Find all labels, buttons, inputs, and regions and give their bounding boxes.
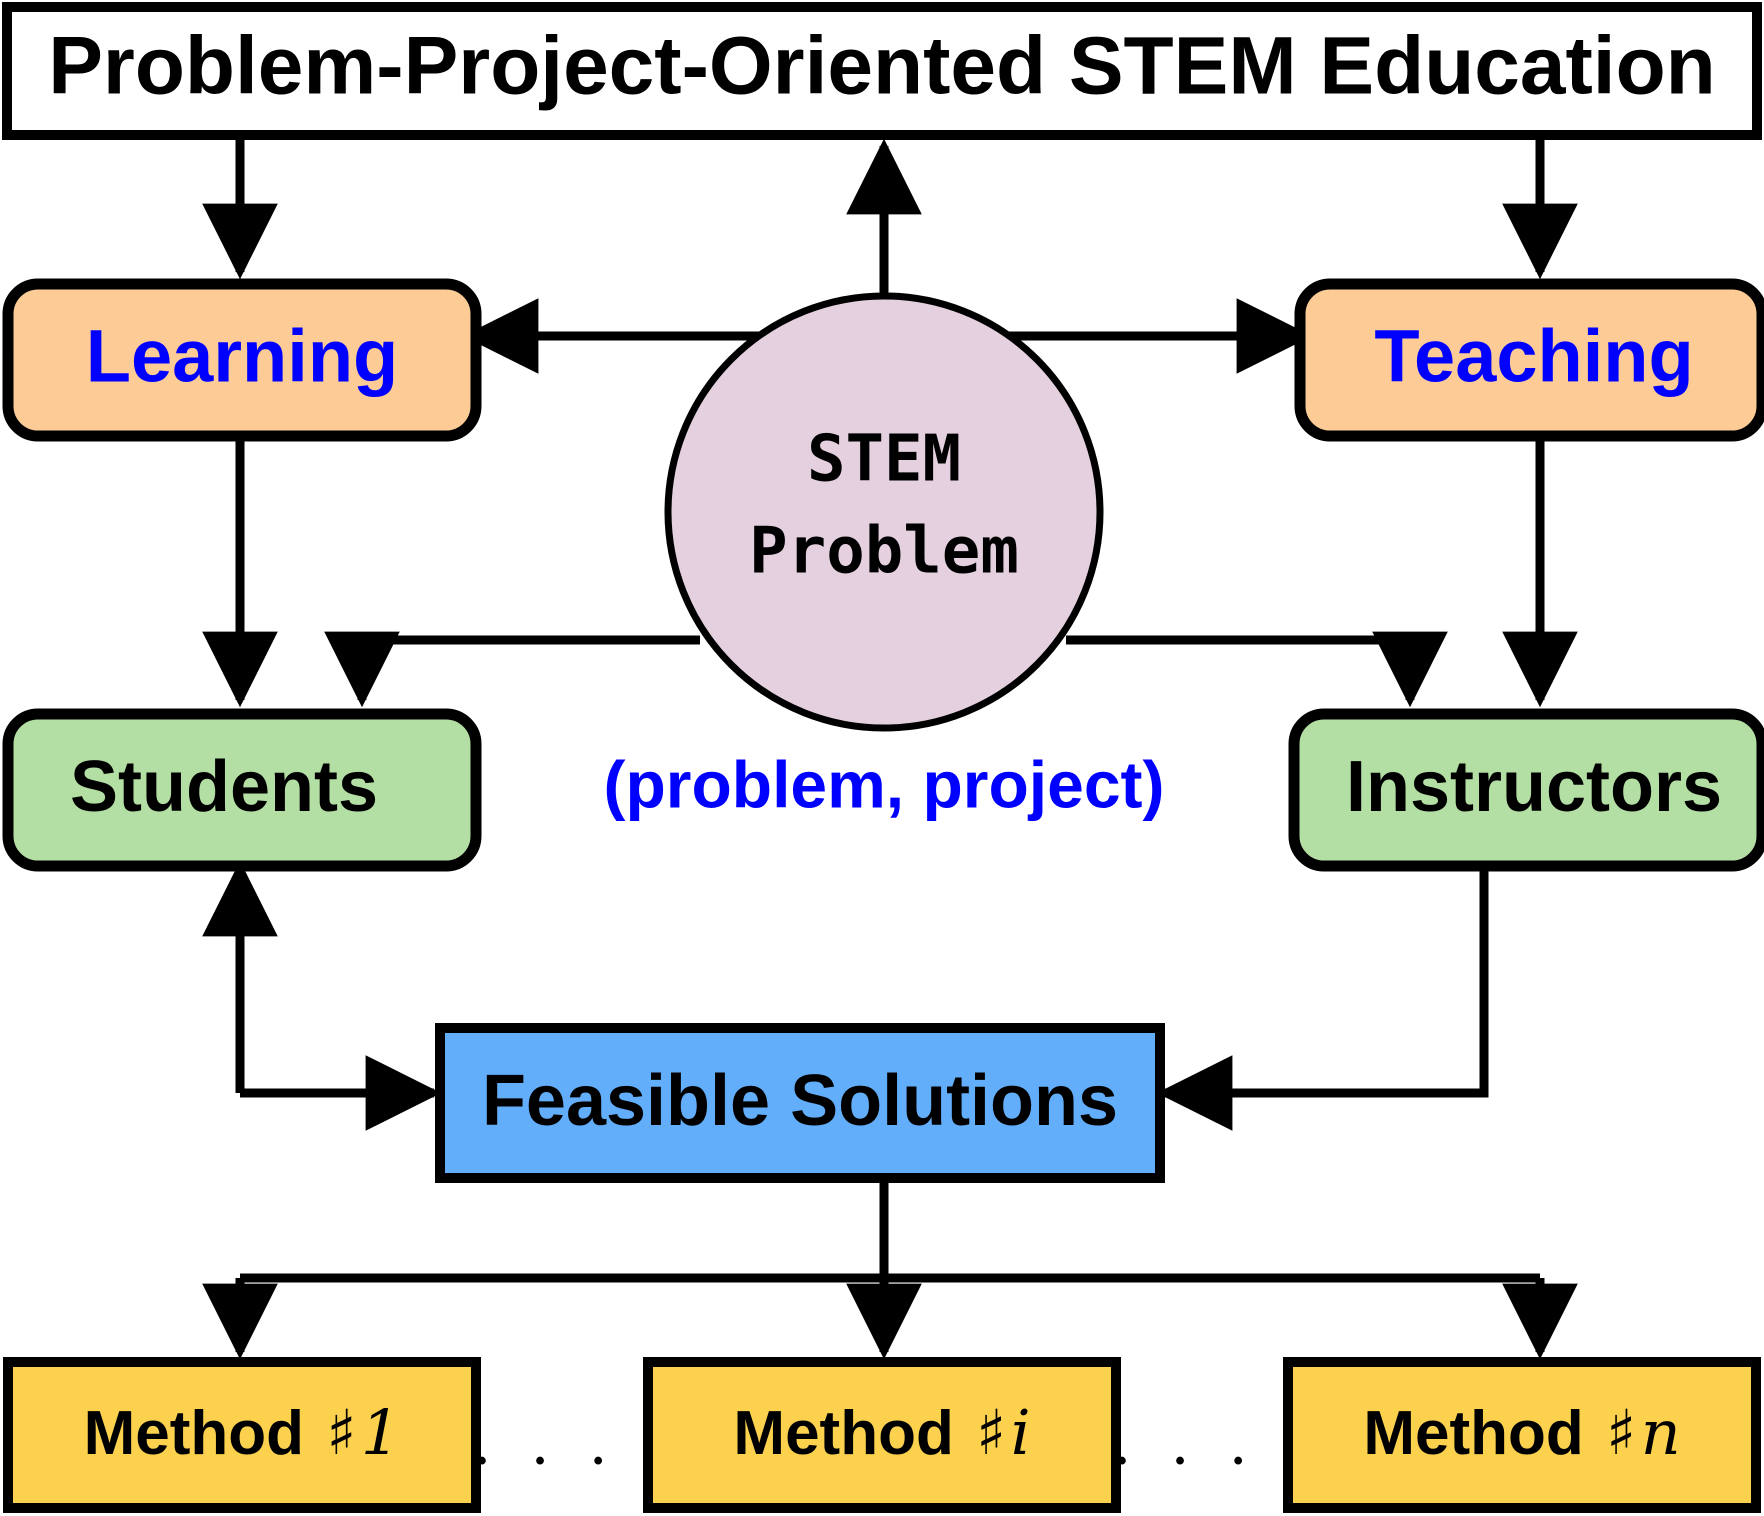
method-1-label: Method ♯ 1 xyxy=(84,1396,401,1469)
node-learning[interactable]: Learning xyxy=(8,284,476,436)
method-n-word: Method xyxy=(1363,1399,1583,1468)
tuple-annotation-label: (problem, project) xyxy=(603,747,1164,821)
students-label: Students xyxy=(70,747,378,827)
edge-problem-to-instructors xyxy=(1066,640,1410,700)
node-teaching[interactable]: Teaching xyxy=(1300,284,1762,436)
title-box-label: Problem-Project-Oriented STEM Education xyxy=(48,21,1716,112)
instructors-label: Instructors xyxy=(1346,747,1722,827)
method-1-word: Method xyxy=(84,1399,304,1468)
method-i-index: i xyxy=(1011,1396,1031,1469)
stem-problem-label-line1: STEM xyxy=(807,423,961,497)
edge-instructors-to-feasible xyxy=(1164,868,1484,1093)
method-1-index: 1 xyxy=(361,1396,400,1469)
node-feasible-solutions[interactable]: Feasible Solutions xyxy=(440,1028,1160,1178)
node-title-box[interactable]: Problem-Project-Oriented STEM Education xyxy=(7,7,1757,135)
feasible-solutions-label: Feasible Solutions xyxy=(482,1061,1118,1141)
node-stem-problem[interactable]: STEM Problem xyxy=(668,296,1100,728)
learning-label: Learning xyxy=(86,315,398,398)
node-method-n[interactable]: Method ♯ n xyxy=(1288,1362,1756,1508)
method-n-index: n xyxy=(1641,1396,1681,1469)
ellipsis-right: . . . xyxy=(1112,1409,1257,1479)
node-method-1[interactable]: Method ♯ 1 xyxy=(8,1362,476,1508)
method-n-label: Method ♯ n xyxy=(1363,1396,1680,1469)
method-i-label: Method ♯ i xyxy=(733,1396,1030,1469)
ellipsis-left: . . . xyxy=(472,1409,617,1479)
method-1-sharp-icon: ♯ xyxy=(326,1396,356,1469)
method-i-sharp-icon: ♯ xyxy=(976,1396,1006,1469)
edge-problem-to-students xyxy=(362,640,700,700)
node-method-i[interactable]: Method ♯ i xyxy=(648,1362,1116,1508)
diagram-canvas: Problem-Project-Oriented STEM Education … xyxy=(0,0,1764,1516)
stem-problem-circle-shape xyxy=(668,296,1100,728)
node-instructors[interactable]: Instructors xyxy=(1294,714,1762,866)
method-i-word: Method xyxy=(733,1399,953,1468)
stem-problem-label-line2: Problem xyxy=(749,515,1019,589)
flowchart-svg: Problem-Project-Oriented STEM Education … xyxy=(0,0,1764,1516)
method-n-sharp-icon: ♯ xyxy=(1606,1396,1636,1469)
teaching-label: Teaching xyxy=(1374,315,1693,398)
node-students[interactable]: Students xyxy=(8,714,476,866)
